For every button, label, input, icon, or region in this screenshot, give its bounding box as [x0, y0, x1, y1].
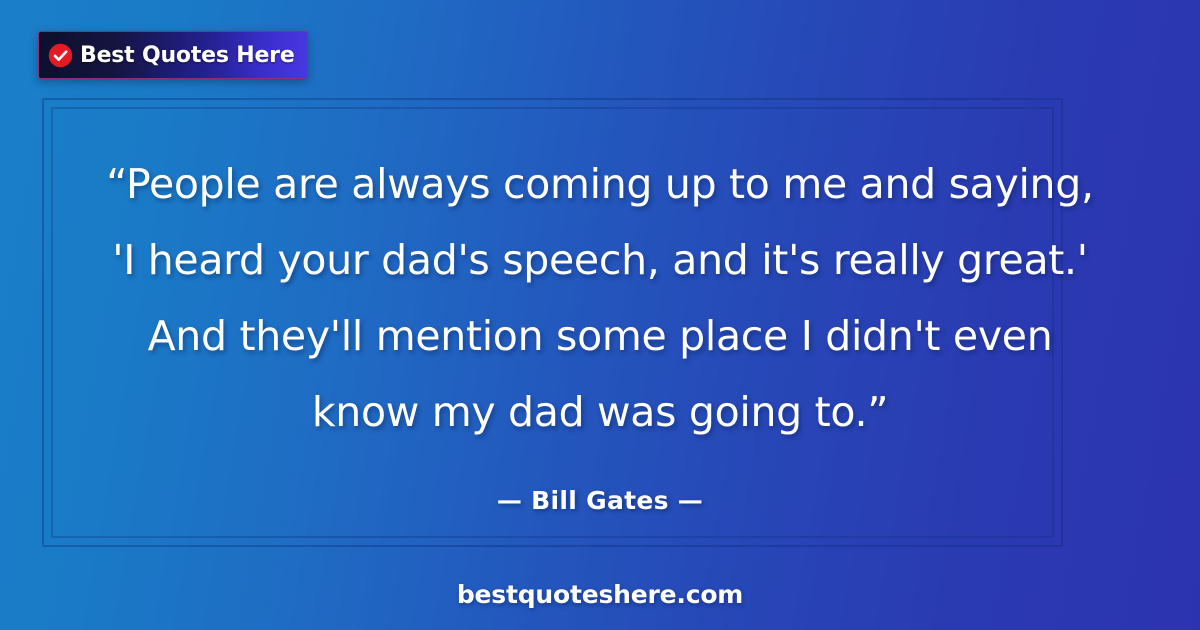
- quote-text: “People are always coming up to me and s…: [100, 146, 1100, 450]
- brand-badge-label: Best Quotes Here: [80, 43, 295, 68]
- brand-badge[interactable]: Best Quotes Here: [38, 31, 308, 79]
- check-circle-icon: [48, 43, 73, 68]
- quote-container: “People are always coming up to me and s…: [60, 118, 1140, 528]
- quote-author: — Bill Gates —: [497, 486, 703, 515]
- site-url: bestquoteshere.com: [0, 580, 1200, 609]
